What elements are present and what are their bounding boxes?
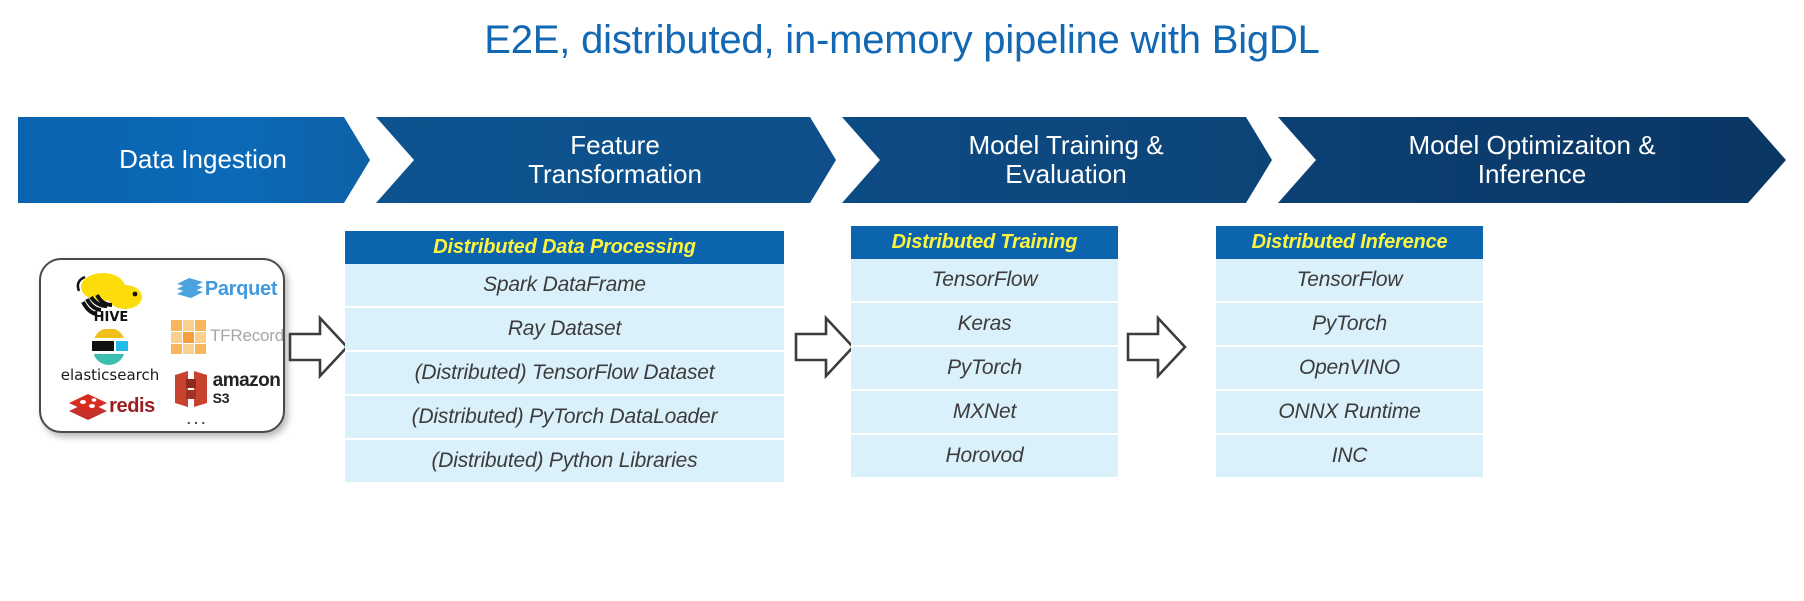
pipeline-stage-model-training-evaluation[interactable]: Model Training &Evaluation xyxy=(842,117,1290,203)
parquet-icon xyxy=(175,276,205,302)
amazon-label: amazon xyxy=(213,372,281,389)
flow-arrow-icon xyxy=(794,312,856,382)
table-row[interactable]: ONNX Runtime xyxy=(1216,391,1483,435)
sources-ellipsis: ... xyxy=(167,408,227,430)
tfrecord-logo: TFRecord xyxy=(167,310,285,362)
amazon-s3-icon xyxy=(172,369,210,409)
pipeline-stage-label: Model Optimizaiton &Inference xyxy=(1380,131,1683,189)
flow-arrow-icon xyxy=(288,312,350,382)
redis-label: redis xyxy=(109,395,155,418)
table-row[interactable]: (Distributed) PyTorch DataLoader xyxy=(345,396,784,440)
pipeline-stage-label: Data Ingestion xyxy=(91,145,315,174)
hive-logo: HIVE xyxy=(51,266,169,328)
elasticsearch-logo: elasticsearch xyxy=(49,326,171,386)
table-header: Distributed Data Processing xyxy=(345,231,784,264)
parquet-logo: Parquet xyxy=(169,268,283,310)
table-row[interactable]: Keras xyxy=(851,303,1118,347)
table-row[interactable]: OpenVINO xyxy=(1216,347,1483,391)
table-distributed-inference: Distributed Inference TensorFlow PyTorch… xyxy=(1216,226,1483,477)
table-row[interactable]: Ray Dataset xyxy=(345,308,784,352)
table-row[interactable]: PyTorch xyxy=(851,347,1118,391)
table-row[interactable]: Spark DataFrame xyxy=(345,264,784,308)
hive-icon: HIVE xyxy=(73,269,147,325)
svg-text:HIVE: HIVE xyxy=(94,310,129,325)
tfrecord-label: TFRecord xyxy=(210,326,284,346)
table-distributed-data-processing: Distributed Data Processing Spark DataFr… xyxy=(345,231,784,482)
table-row[interactable]: TensorFlow xyxy=(1216,259,1483,303)
pipeline-stage-label: FeatureTransformation xyxy=(500,131,730,189)
table-row[interactable]: (Distributed) TensorFlow Dataset xyxy=(345,352,784,396)
table-header: Distributed Training xyxy=(851,226,1118,259)
data-sources-box: HIVE elasticsearch redis xyxy=(39,258,285,433)
elasticsearch-icon xyxy=(90,329,130,365)
page-title: E2E, distributed, in-memory pipeline wit… xyxy=(0,18,1804,63)
table-header: Distributed Inference xyxy=(1216,226,1483,259)
elasticsearch-label: elasticsearch xyxy=(61,366,160,384)
table-row[interactable]: MXNet xyxy=(851,391,1118,435)
pipeline-stage-model-optimization-inference[interactable]: Model Optimizaiton &Inference xyxy=(1278,117,1786,203)
pipeline-stage-data-ingestion[interactable]: Data Ingestion xyxy=(18,117,388,203)
table-row[interactable]: Horovod xyxy=(851,435,1118,477)
parquet-label: Parquet xyxy=(205,278,277,301)
pipeline-stage-label: Model Training &Evaluation xyxy=(940,131,1191,189)
pipeline-banner: Data Ingestion FeatureTransformation Mod… xyxy=(18,117,1786,203)
redis-logo: redis xyxy=(51,384,171,428)
tfrecord-icon xyxy=(168,315,210,357)
redis-icon xyxy=(67,389,109,423)
table-row[interactable]: TensorFlow xyxy=(851,259,1118,303)
table-row[interactable]: INC xyxy=(1216,435,1483,477)
table-row[interactable]: PyTorch xyxy=(1216,303,1483,347)
flow-arrow-icon xyxy=(1126,312,1188,382)
pipeline-stage-feature-transformation[interactable]: FeatureTransformation xyxy=(376,117,854,203)
amazon-s3-sublabel: S3 xyxy=(213,390,230,406)
table-row[interactable]: (Distributed) Python Libraries xyxy=(345,440,784,482)
table-distributed-training: Distributed Training TensorFlow Keras Py… xyxy=(851,226,1118,477)
